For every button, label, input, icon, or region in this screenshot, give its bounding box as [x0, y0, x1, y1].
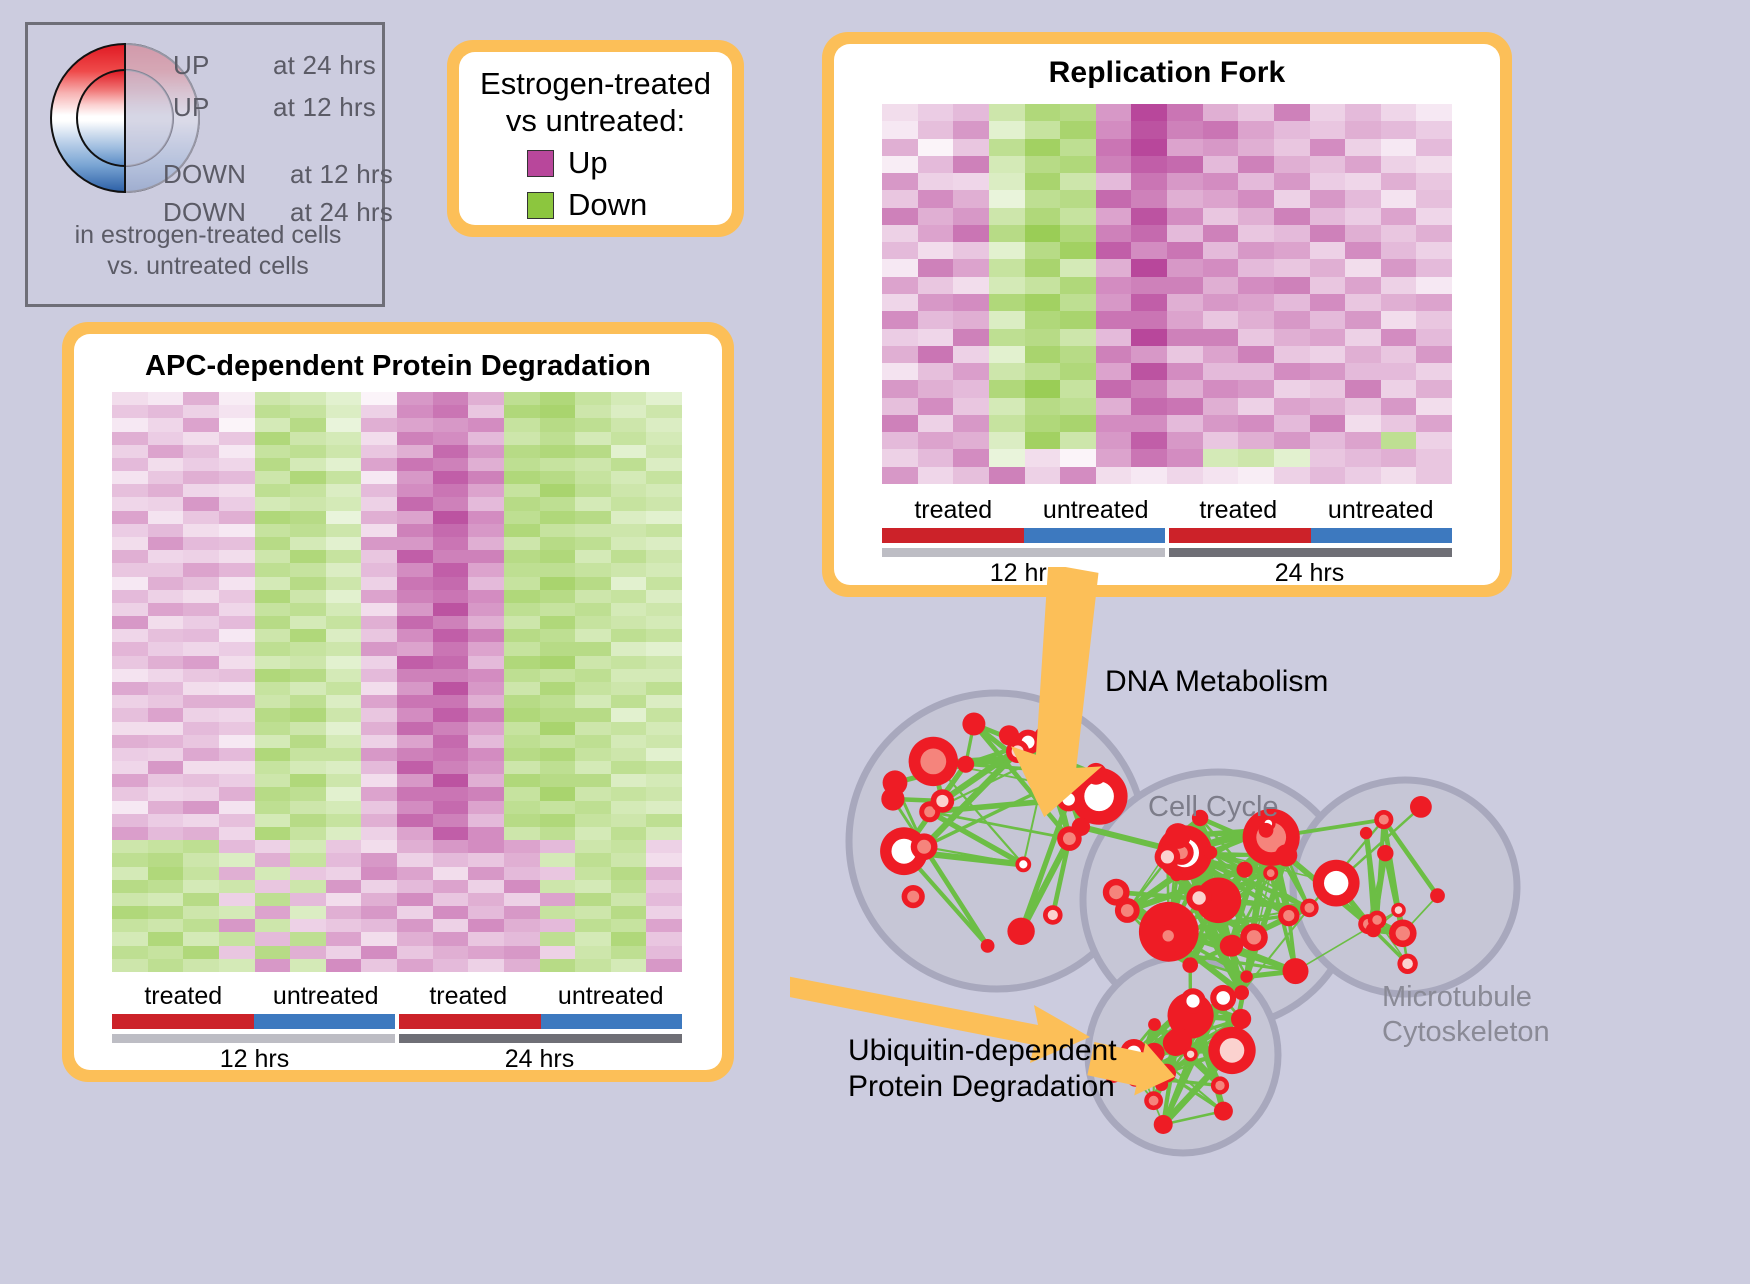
- heatmap-cell: [361, 458, 397, 471]
- heatmap-cell: [1274, 225, 1310, 242]
- heatmap-cell: [953, 259, 989, 276]
- heatmap-cell: [1310, 363, 1346, 380]
- heatmap-cell: [1345, 173, 1381, 190]
- heatmap-cell: [646, 432, 682, 445]
- heatmap-cell: [646, 867, 682, 880]
- heatmap-cell: [112, 550, 148, 563]
- heatmap-cell: [112, 814, 148, 827]
- heatmap-cell: [1381, 259, 1417, 276]
- heatmap-cell: [326, 537, 362, 550]
- heatmap-cell: [112, 748, 148, 761]
- heatmap-cell: [1131, 467, 1167, 484]
- heatmap-cell: [540, 761, 576, 774]
- heatmap-cell: [1381, 432, 1417, 449]
- heatmap-cell: [219, 708, 255, 721]
- heatmap-cell: [882, 208, 918, 225]
- heatmap-cell: [183, 774, 219, 787]
- heatmap-cell: [1131, 173, 1167, 190]
- heatmap-cell: [953, 415, 989, 432]
- heatmap-cell: [611, 669, 647, 682]
- heatmap-cell: [255, 405, 291, 418]
- heatmap-cell: [918, 432, 954, 449]
- heatmap-cell: [540, 590, 576, 603]
- heatmap-cell: [504, 761, 540, 774]
- heatmap-cell: [148, 748, 184, 761]
- heatmap-cell: [646, 761, 682, 774]
- heatmap-cell: [219, 629, 255, 642]
- heatmap-cell: [1310, 225, 1346, 242]
- heatmap-cell: [255, 787, 291, 800]
- heatmap-cell: [148, 682, 184, 695]
- heatmap-cell: [1060, 449, 1096, 466]
- heatmap-cell: [575, 497, 611, 510]
- heatmap-cell: [468, 392, 504, 405]
- heatmap-cell: [326, 524, 362, 537]
- heatmap-cell: [1416, 346, 1452, 363]
- heatmap-cell: [397, 616, 433, 629]
- heatmap-cell: [504, 840, 540, 853]
- heatmap-cell: [433, 722, 469, 735]
- heatmap-cell: [397, 418, 433, 431]
- heatmap-cell: [397, 629, 433, 642]
- heatmap-cell: [540, 682, 576, 695]
- heatmap-cell: [1167, 398, 1203, 415]
- heatmap-cell: [148, 629, 184, 642]
- heatmap-cell: [611, 603, 647, 616]
- heatmap-cell: [989, 156, 1025, 173]
- heatmap-cell: [290, 695, 326, 708]
- condition-bar-segment: [399, 1014, 541, 1029]
- heatmap-cell: [918, 449, 954, 466]
- heatmap-cell: [468, 405, 504, 418]
- heatmap-cell: [882, 467, 918, 484]
- heatmap-cell: [397, 458, 433, 471]
- heatmap-cell: [255, 932, 291, 945]
- heatmap-cell: [540, 669, 576, 682]
- heatmap-cell: [646, 550, 682, 563]
- heatmap-cell: [504, 642, 540, 655]
- heatmap-cell: [1203, 346, 1239, 363]
- heatmap-cell: [397, 524, 433, 537]
- heatmap-cell: [882, 104, 918, 121]
- heatmap-cell: [1060, 242, 1096, 259]
- heatmap-cell: [611, 708, 647, 721]
- heatmap-cell: [433, 682, 469, 695]
- heatmap-cell: [611, 471, 647, 484]
- heatmap-cell: [646, 563, 682, 576]
- heatmap-cell: [989, 208, 1025, 225]
- heatmap-cell: [1060, 329, 1096, 346]
- heatmap-cell: [1345, 225, 1381, 242]
- heatmap-cell: [575, 761, 611, 774]
- heatmap-cell: [255, 695, 291, 708]
- heatmap-cell: [148, 484, 184, 497]
- heatmap-cell: [219, 893, 255, 906]
- heatmap-cell: [1274, 173, 1310, 190]
- heatmap-cell: [540, 656, 576, 669]
- heatmap-cell: [148, 669, 184, 682]
- heatmap-cell: [611, 590, 647, 603]
- heatmap-cell: [468, 629, 504, 642]
- heatmap-cell: [504, 590, 540, 603]
- heatmap-cell: [183, 682, 219, 695]
- heatmap-cell: [989, 225, 1025, 242]
- up-label: Up: [568, 145, 608, 181]
- heatmap-cell: [255, 946, 291, 959]
- heatmap-cell: [326, 682, 362, 695]
- heatmap-cell: [1025, 104, 1061, 121]
- heatmap-cell: [504, 432, 540, 445]
- heatmap-cell: [1238, 432, 1274, 449]
- heatmap-cell: [646, 906, 682, 919]
- heatmap-cell: [255, 853, 291, 866]
- heatmap-cell: [468, 511, 504, 524]
- heatmap-cell: [1096, 277, 1132, 294]
- heatmap-cell: [361, 695, 397, 708]
- heatmap-cell: [646, 774, 682, 787]
- heatmap-cell: [646, 919, 682, 932]
- timepoint-color-bar: [882, 548, 1452, 557]
- heatmap-cell: [989, 398, 1025, 415]
- heatmap-cell: [361, 550, 397, 563]
- heatmap-cell: [148, 616, 184, 629]
- heatmap-cell: [361, 445, 397, 458]
- heatmap-cell: [575, 840, 611, 853]
- heatmap-cell: [1238, 380, 1274, 397]
- condition-label: untreated: [1310, 496, 1453, 525]
- heatmap-cell: [1131, 242, 1167, 259]
- heatmap-cell: [1203, 173, 1239, 190]
- heatmap-cell: [540, 748, 576, 761]
- heatmap-cell: [504, 563, 540, 576]
- heatmap-cell: [112, 682, 148, 695]
- heatmap-cell: [290, 629, 326, 642]
- heatmap-cell: [1345, 432, 1381, 449]
- heatmap-cell: [397, 761, 433, 774]
- heatmap-cell: [646, 801, 682, 814]
- heatmap-cell: [1310, 346, 1346, 363]
- heatmap-cell: [290, 932, 326, 945]
- heatmap-cell: [1167, 225, 1203, 242]
- heatmap-cell: [989, 380, 1025, 397]
- heatmap-cell: [255, 919, 291, 932]
- heatmap-cell: [326, 695, 362, 708]
- heatmap-cell: [611, 867, 647, 880]
- heatmap-cell: [433, 946, 469, 959]
- heatmap-cell: [183, 735, 219, 748]
- heatmap-cell: [989, 311, 1025, 328]
- heatmap-cell: [1096, 242, 1132, 259]
- heatmap-cell: [183, 550, 219, 563]
- heatmap-cell: [183, 418, 219, 431]
- heatmap-cell: [433, 550, 469, 563]
- heatmap-cell: [504, 458, 540, 471]
- heatmap-cell: [326, 656, 362, 669]
- apc-degradation-heatmap: [112, 392, 682, 972]
- heatmap-cell: [1345, 449, 1381, 466]
- heatmap-cell: [953, 294, 989, 311]
- heatmap-cell: [468, 577, 504, 590]
- heatmap-cell: [468, 537, 504, 550]
- heatmap-cell: [611, 695, 647, 708]
- heatmap-cell: [611, 577, 647, 590]
- heatmap-cell: [540, 511, 576, 524]
- heatmap-cell: [290, 761, 326, 774]
- heatmap-cell: [1416, 190, 1452, 207]
- heatmap-cell: [183, 827, 219, 840]
- heatmap-cell: [290, 484, 326, 497]
- heatmap-cell: [1381, 173, 1417, 190]
- heatmap-cell: [361, 497, 397, 510]
- heatmap-cell: [1203, 311, 1239, 328]
- heatmap-cell: [433, 814, 469, 827]
- heatmap-cell: [1025, 173, 1061, 190]
- heatmap-cell: [540, 392, 576, 405]
- heatmap-cell: [611, 932, 647, 945]
- heatmap-cell: [112, 880, 148, 893]
- heatmap-cell: [326, 484, 362, 497]
- heatmap-cell: [255, 840, 291, 853]
- heatmap-cell: [1096, 380, 1132, 397]
- heatmap-cell: [183, 906, 219, 919]
- heatmap-cell: [433, 537, 469, 550]
- heatmap-cell: [611, 919, 647, 932]
- heatmap-cell: [611, 550, 647, 563]
- condition-label: untreated: [255, 982, 398, 1011]
- heatmap-cell: [361, 906, 397, 919]
- heatmap-cell: [575, 787, 611, 800]
- heatmap-cell: [611, 497, 647, 510]
- heatmap-cell: [646, 524, 682, 537]
- heatmap-cell: [1416, 363, 1452, 380]
- heatmap-cell: [1416, 415, 1452, 432]
- heatmap-cell: [1203, 156, 1239, 173]
- heatmap-cell: [611, 682, 647, 695]
- heatmap-cell: [611, 761, 647, 774]
- heatmap-cell: [1025, 311, 1061, 328]
- timepoint-color-bar: [112, 1034, 682, 1043]
- heatmap-cell: [1381, 225, 1417, 242]
- heatmap-cell: [1203, 139, 1239, 156]
- heatmap-cell: [1238, 208, 1274, 225]
- heatmap-cell: [290, 682, 326, 695]
- heatmap-cell: [219, 695, 255, 708]
- condition-bar-segment: [541, 1014, 683, 1029]
- heatmap-cell: [148, 946, 184, 959]
- heatmap-cell: [361, 827, 397, 840]
- heatmap-cell: [219, 827, 255, 840]
- heatmap-cell: [290, 722, 326, 735]
- heatmap-cell: [148, 708, 184, 721]
- heatmap-cell: [1238, 311, 1274, 328]
- heatmap-cell: [219, 880, 255, 893]
- heatmap-cell: [1203, 415, 1239, 432]
- heatmap-cell: [468, 708, 504, 721]
- ring-time-down-12: at 12 hrs: [290, 159, 393, 190]
- heatmap-cell: [504, 603, 540, 616]
- heatmap-cell: [504, 735, 540, 748]
- heatmap-cell: [611, 906, 647, 919]
- heatmap-cell: [1060, 294, 1096, 311]
- heatmap-cell: [1131, 225, 1167, 242]
- heatmap-cell: [255, 590, 291, 603]
- heatmap-cell: [148, 458, 184, 471]
- heatmap-cell: [989, 432, 1025, 449]
- heatmap-cell: [290, 735, 326, 748]
- heatmap-cell: [1345, 311, 1381, 328]
- timepoint-bar-segment: [882, 548, 1165, 557]
- heatmap-cell: [433, 774, 469, 787]
- heatmap-cell: [433, 893, 469, 906]
- heatmap-cell: [183, 392, 219, 405]
- heatmap-cell: [1345, 329, 1381, 346]
- heatmap-cell: [433, 906, 469, 919]
- heatmap-cell: [361, 722, 397, 735]
- heatmap-cell: [1310, 242, 1346, 259]
- heatmap-cell: [468, 682, 504, 695]
- heatmap-cell: [1345, 467, 1381, 484]
- heatmap-cell: [433, 616, 469, 629]
- heatmap-cell: [468, 656, 504, 669]
- heatmap-cell: [1131, 139, 1167, 156]
- heatmap-cell: [611, 642, 647, 655]
- heatmap-cell: [1096, 259, 1132, 276]
- heatmap-cell: [183, 801, 219, 814]
- heatmap-cell: [361, 590, 397, 603]
- heatmap-cell: [575, 563, 611, 576]
- heatmap-cell: [1203, 121, 1239, 138]
- heatmap-cell: [646, 629, 682, 642]
- heatmap-cell: [575, 932, 611, 945]
- heatmap-cell: [1416, 432, 1452, 449]
- heatmap-cell: [361, 959, 397, 972]
- heatmap-cell: [1381, 208, 1417, 225]
- heatmap-cell: [219, 669, 255, 682]
- heatmap-cell: [397, 801, 433, 814]
- heatmap-cell: [112, 840, 148, 853]
- heatmap-cell: [1025, 190, 1061, 207]
- heatmap-cell: [611, 418, 647, 431]
- heatmap-cell: [575, 880, 611, 893]
- timepoint-bar-segment: [112, 1034, 395, 1043]
- heatmap-cell: [183, 853, 219, 866]
- heatmap-cell: [575, 629, 611, 642]
- ring-time-up-24: at 24 hrs: [273, 50, 376, 81]
- heatmap-cell: [1203, 259, 1239, 276]
- heatmap-cell: [1416, 173, 1452, 190]
- heatmap-cell: [468, 946, 504, 959]
- heatmap-cell: [326, 959, 362, 972]
- heatmap-cell: [361, 656, 397, 669]
- heatmap-cell: [646, 708, 682, 721]
- heatmap-cell: [1167, 449, 1203, 466]
- heatmap-cell: [255, 445, 291, 458]
- heatmap-cell: [504, 524, 540, 537]
- heatmap-cell: [1167, 380, 1203, 397]
- heatmap-cell: [1238, 225, 1274, 242]
- heatmap-cell: [989, 242, 1025, 259]
- heatmap-cell: [1274, 329, 1310, 346]
- heatmap-cell: [540, 840, 576, 853]
- heatmap-cell: [1131, 259, 1167, 276]
- heatmap-cell: [361, 418, 397, 431]
- heatmap-cell: [1096, 190, 1132, 207]
- heatmap-cell: [989, 449, 1025, 466]
- heatmap-cell: [611, 432, 647, 445]
- heatmap-cell: [882, 294, 918, 311]
- heatmap-cell: [953, 398, 989, 415]
- heatmap-cell: [433, 959, 469, 972]
- heatmap-cell: [611, 616, 647, 629]
- heatmap-cell: [1238, 104, 1274, 121]
- heatmap-cell: [326, 880, 362, 893]
- heatmap-cell: [468, 695, 504, 708]
- heatmap-cell: [504, 748, 540, 761]
- heatmap-cell: [1274, 190, 1310, 207]
- heatmap-cell: [148, 827, 184, 840]
- heatmap-cell: [1131, 329, 1167, 346]
- heatmap-cell: [1203, 104, 1239, 121]
- heatmap-cell: [183, 563, 219, 576]
- heatmap-cell: [646, 735, 682, 748]
- heatmap-cell: [1167, 139, 1203, 156]
- heatmap-cell: [1060, 225, 1096, 242]
- heatmap-cell: [540, 418, 576, 431]
- heatmap-cell: [1131, 432, 1167, 449]
- heatmap-cell: [290, 774, 326, 787]
- heatmap-cell: [148, 471, 184, 484]
- condition-bar-segment: [112, 1014, 254, 1029]
- heatmap-cell: [112, 787, 148, 800]
- heatmap-cell: [326, 814, 362, 827]
- heatmap-cell: [255, 959, 291, 972]
- heatmap-cell: [540, 853, 576, 866]
- heatmap-cell: [433, 748, 469, 761]
- heatmap-cell: [1345, 380, 1381, 397]
- heatmap-cell: [646, 682, 682, 695]
- heatmap-cell: [183, 840, 219, 853]
- heatmap-cell: [326, 919, 362, 932]
- heatmap-cell: [504, 484, 540, 497]
- heatmap-cell: [219, 932, 255, 945]
- heatmap-cell: [112, 524, 148, 537]
- heatmap-cell: [646, 405, 682, 418]
- heatmap-cell: [397, 867, 433, 880]
- heatmap-cell: [540, 774, 576, 787]
- heatmap-cell: [326, 774, 362, 787]
- heatmap-cell: [290, 840, 326, 853]
- heatmap-cell: [361, 919, 397, 932]
- heatmap-cell: [397, 642, 433, 655]
- heatmap-cell: [148, 893, 184, 906]
- heatmap-cell: [611, 511, 647, 524]
- heatmap-cell: [397, 656, 433, 669]
- condition-label: treated: [397, 982, 540, 1011]
- heatmap-cell: [326, 497, 362, 510]
- heatmap-cell: [255, 616, 291, 629]
- heatmap-cell: [1345, 259, 1381, 276]
- heatmap-cell: [953, 139, 989, 156]
- heatmap-cell: [112, 906, 148, 919]
- heatmap-cell: [1203, 277, 1239, 294]
- ring-legend-caption: in estrogen-treated cells vs. untreated …: [28, 220, 388, 281]
- heatmap-cell: [1203, 432, 1239, 449]
- heatmap-cell: [540, 801, 576, 814]
- heatmap-cell: [219, 497, 255, 510]
- heatmap-cell: [1310, 104, 1346, 121]
- heatmap-cell: [989, 259, 1025, 276]
- heatmap-cell: [540, 814, 576, 827]
